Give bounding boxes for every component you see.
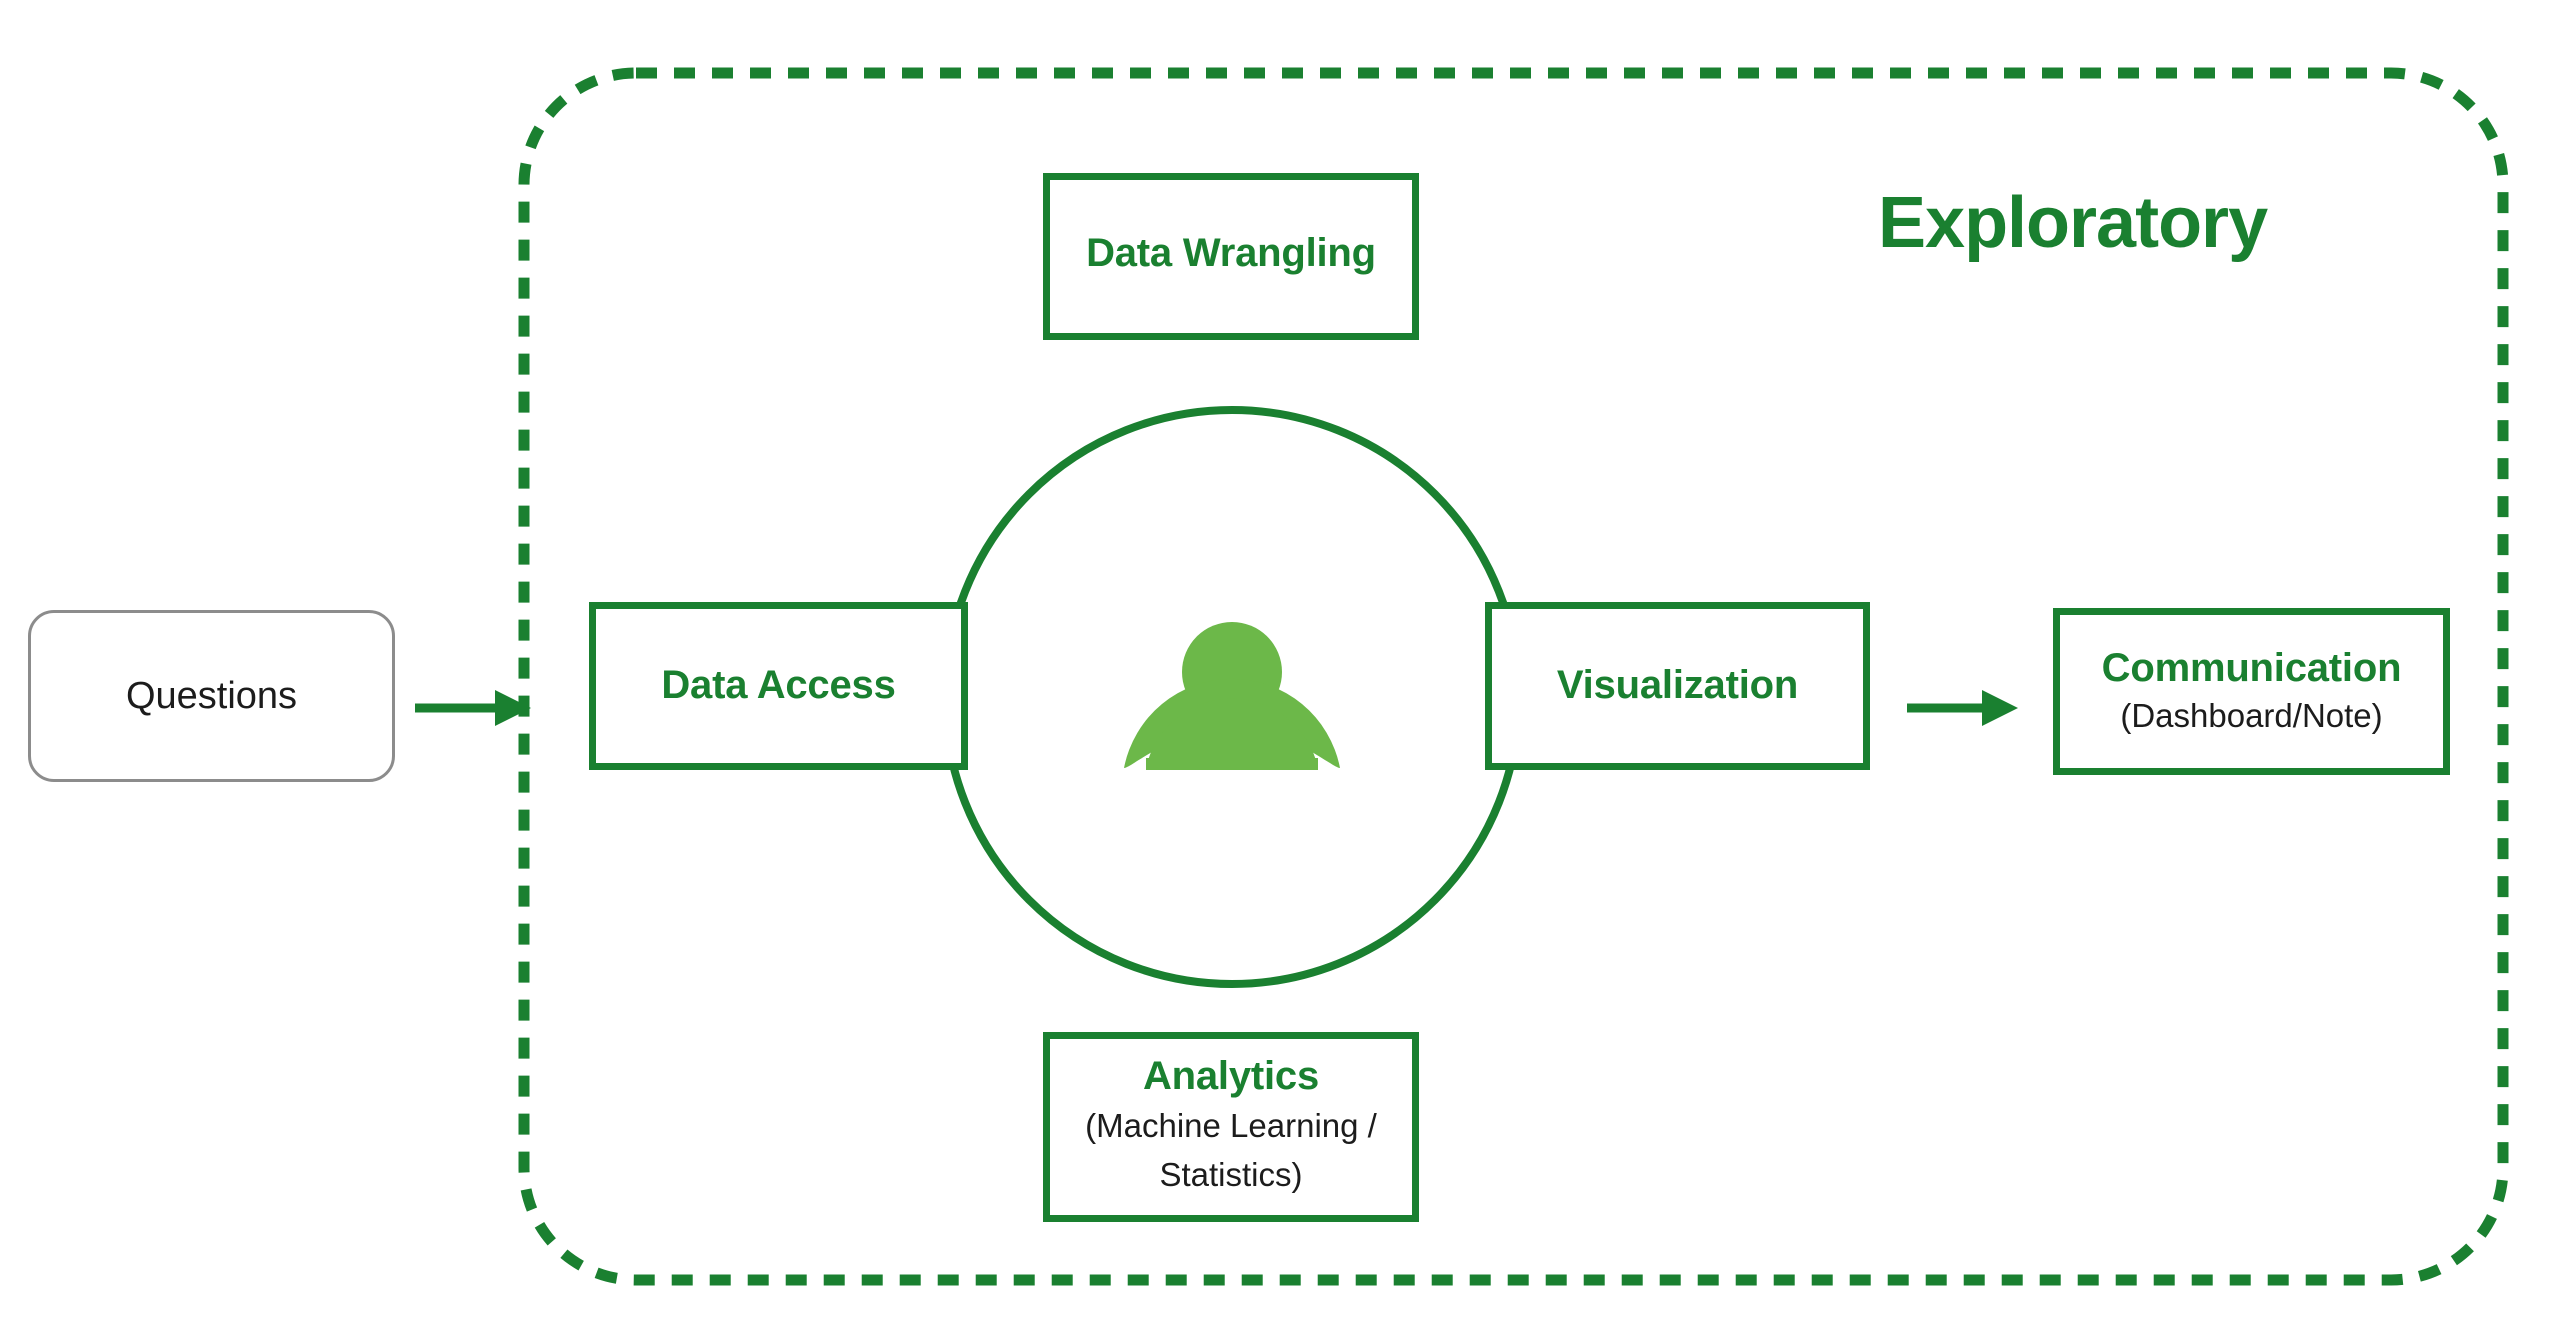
node-visualization[interactable]: Visualization — [1485, 602, 1870, 770]
node-communication-label: Communication — [2102, 645, 2402, 692]
node-data-wrangling[interactable]: Data Wrangling — [1043, 173, 1419, 340]
node-data-wrangling-label: Data Wrangling — [1086, 230, 1376, 277]
node-data-access-label: Data Access — [661, 662, 895, 709]
node-visualization-label: Visualization — [1557, 662, 1798, 709]
node-analytics[interactable]: Analytics (Machine Learning / Statistics… — [1043, 1032, 1419, 1222]
person-icon — [1124, 622, 1340, 770]
diagram-canvas: Questions Data Wrangling Data Access Vis… — [0, 0, 2554, 1318]
arrow-questions-to-data-access — [415, 690, 531, 726]
node-analytics-sublabel-line2: Statistics) — [1159, 1153, 1302, 1198]
node-analytics-sublabel-line1: (Machine Learning / — [1085, 1104, 1377, 1149]
arrow-visualization-to-communication — [1907, 690, 2018, 726]
node-questions[interactable]: Questions — [28, 610, 395, 782]
node-communication[interactable]: Communication (Dashboard/Note) — [2053, 608, 2450, 775]
node-analytics-label: Analytics — [1143, 1053, 1319, 1100]
exploratory-section-title: Exploratory — [1878, 182, 2267, 264]
node-communication-sublabel: (Dashboard/Note) — [2120, 694, 2382, 739]
node-data-access[interactable]: Data Access — [589, 602, 968, 770]
node-questions-label: Questions — [126, 675, 297, 718]
